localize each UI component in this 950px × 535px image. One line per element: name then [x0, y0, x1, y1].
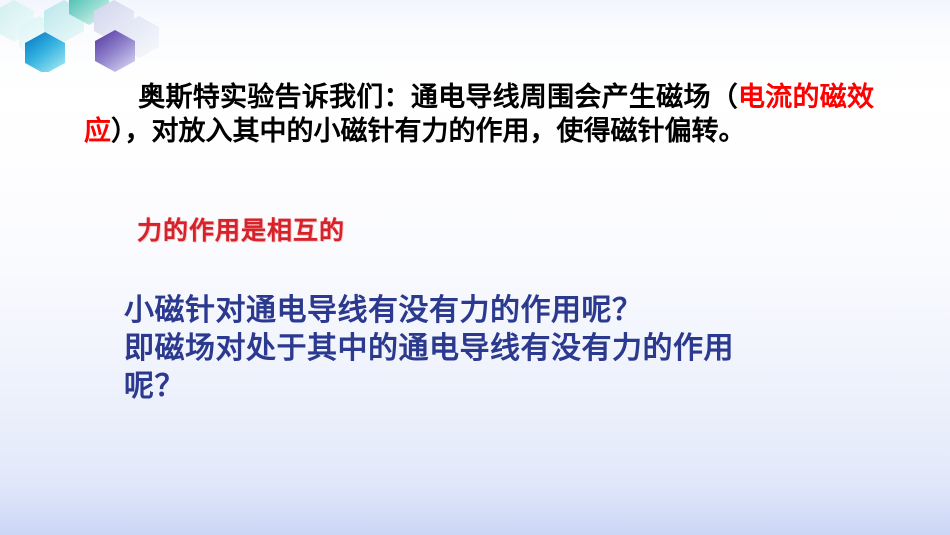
hexagon-cluster-decoration: [0, 0, 430, 72]
main-paragraph: 奥斯特实验告诉我们：通电导线周围会产生磁场（电流的磁效应），对放入其中的小磁针有…: [84, 80, 874, 148]
hexagon-pale-left-edge: [0, 0, 34, 42]
slide-canvas: 奥斯特实验告诉我们：通电导线周围会产生磁场（电流的磁效应），对放入其中的小磁针有…: [0, 0, 950, 535]
hexagon-teal-green: [69, 0, 109, 25]
hexagon-cyan-bright: [25, 32, 65, 72]
blue-question-block: 小磁针对通电导线有没有力的作用呢？ 即磁场对处于其中的通电导线有没有力的作用 呢…: [124, 292, 894, 406]
blue-question-line-3: 呢？: [124, 368, 894, 406]
hexagon-pale-mid: [44, 0, 84, 42]
hexagon-lavender-pale: [94, 0, 134, 42]
blue-question-line-2: 即磁场对处于其中的通电导线有没有力的作用: [124, 330, 894, 368]
hexagon-lavender-right: [119, 16, 159, 58]
red-emphasis-heading: 力的作用是相互的: [137, 216, 345, 248]
paragraph-segment-1: 奥斯特实验告诉我们：通电导线周围会产生磁场（: [138, 82, 738, 112]
hexagon-purple-bright: [95, 30, 135, 72]
blue-question-line-1: 小磁针对通电导线有没有力的作用呢？: [124, 292, 894, 330]
paragraph-segment-3: ），对放入其中的小磁针有力的作用，使得磁针偏转。: [111, 116, 746, 146]
hexagon-cluster-svg: [0, 0, 430, 72]
hexagon-pale-upper-left: [19, 16, 59, 58]
